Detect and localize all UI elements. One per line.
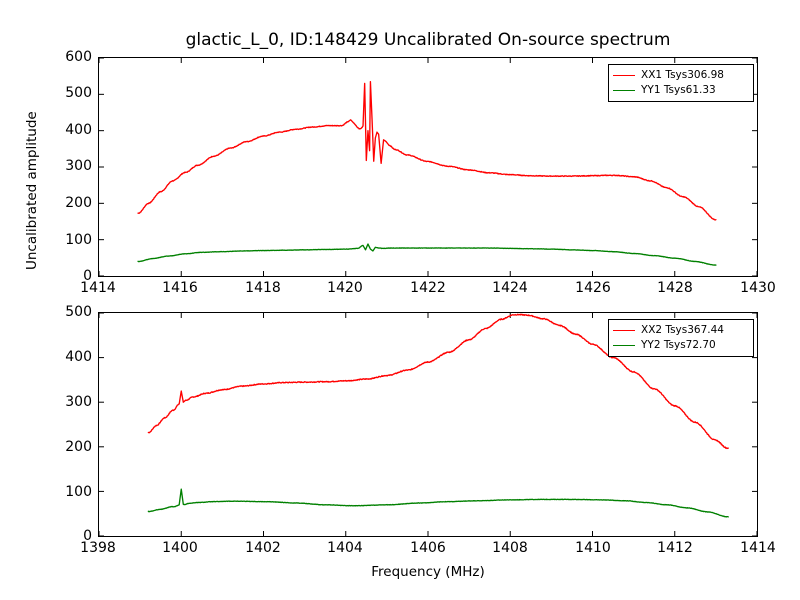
y-tick-top-500: 500 xyxy=(56,85,92,101)
legend-item-xx1[interactable]: XX1 Tsys306.98 xyxy=(613,68,748,83)
legend-label-xx1: XX1 Tsys306.98 xyxy=(641,68,724,83)
y-tick-bottom-100: 100 xyxy=(56,484,92,500)
x-tick-bottom-1406: 1406 xyxy=(398,540,458,556)
y-tick-bottom-300: 300 xyxy=(56,394,92,410)
legend-item-yy2[interactable]: YY2 Tsys72.70 xyxy=(613,338,748,353)
x-tick-bottom-1400: 1400 xyxy=(150,540,210,556)
x-tick-top-1428: 1428 xyxy=(645,280,705,296)
y-tick-bottom-400: 400 xyxy=(56,349,92,365)
legend-swatch-yy2 xyxy=(613,345,635,346)
series-line xyxy=(148,489,728,517)
x-tick-top-1416: 1416 xyxy=(150,280,210,296)
x-tick-bottom-1398: 1398 xyxy=(68,540,128,556)
y-tick-bottom-200: 200 xyxy=(56,439,92,455)
legend-label-yy1: YY1 Tsys61.33 xyxy=(641,83,716,98)
x-tick-bottom-1414: 1414 xyxy=(728,540,788,556)
x-tick-top-1424: 1424 xyxy=(480,280,540,296)
x-tick-top-1420: 1420 xyxy=(315,280,375,296)
series-line xyxy=(138,244,716,265)
y-tick-top-200: 200 xyxy=(56,195,92,211)
legend-top[interactable]: XX1 Tsys306.98 YY1 Tsys61.33 xyxy=(608,64,754,102)
y-axis-label: Uncalibrated amplitude xyxy=(24,111,40,270)
legend-swatch-yy1 xyxy=(613,90,635,91)
legend-swatch-xx1 xyxy=(613,75,635,76)
y-tick-bottom-500: 500 xyxy=(56,304,92,320)
legend-item-xx2[interactable]: XX2 Tsys367.44 xyxy=(613,323,748,338)
x-tick-bottom-1412: 1412 xyxy=(645,540,705,556)
x-tick-top-1418: 1418 xyxy=(233,280,293,296)
x-tick-bottom-1408: 1408 xyxy=(480,540,540,556)
x-tick-top-1414: 1414 xyxy=(68,280,128,296)
legend-bottom[interactable]: XX2 Tsys367.44 YY2 Tsys72.70 xyxy=(608,319,754,357)
x-tick-top-1430: 1430 xyxy=(728,280,788,296)
y-tick-top-400: 400 xyxy=(56,122,92,138)
x-tick-bottom-1410: 1410 xyxy=(563,540,623,556)
y-tick-top-300: 300 xyxy=(56,158,92,174)
page-title: glactic_L_0, ID:148429 Uncalibrated On-s… xyxy=(98,30,758,50)
legend-item-yy1[interactable]: YY1 Tsys61.33 xyxy=(613,83,748,98)
y-tick-top-600: 600 xyxy=(56,49,92,65)
x-tick-top-1426: 1426 xyxy=(563,280,623,296)
legend-label-xx2: XX2 Tsys367.44 xyxy=(641,323,724,338)
legend-label-yy2: YY2 Tsys72.70 xyxy=(641,338,716,353)
legend-swatch-xx2 xyxy=(613,330,635,331)
x-axis-label: Frequency (MHz) xyxy=(98,564,758,580)
x-tick-top-1422: 1422 xyxy=(398,280,458,296)
series-line xyxy=(138,82,716,220)
y-tick-top-100: 100 xyxy=(56,232,92,248)
figure-canvas: glactic_L_0, ID:148429 Uncalibrated On-s… xyxy=(0,0,800,600)
x-tick-bottom-1402: 1402 xyxy=(233,540,293,556)
x-tick-bottom-1404: 1404 xyxy=(315,540,375,556)
